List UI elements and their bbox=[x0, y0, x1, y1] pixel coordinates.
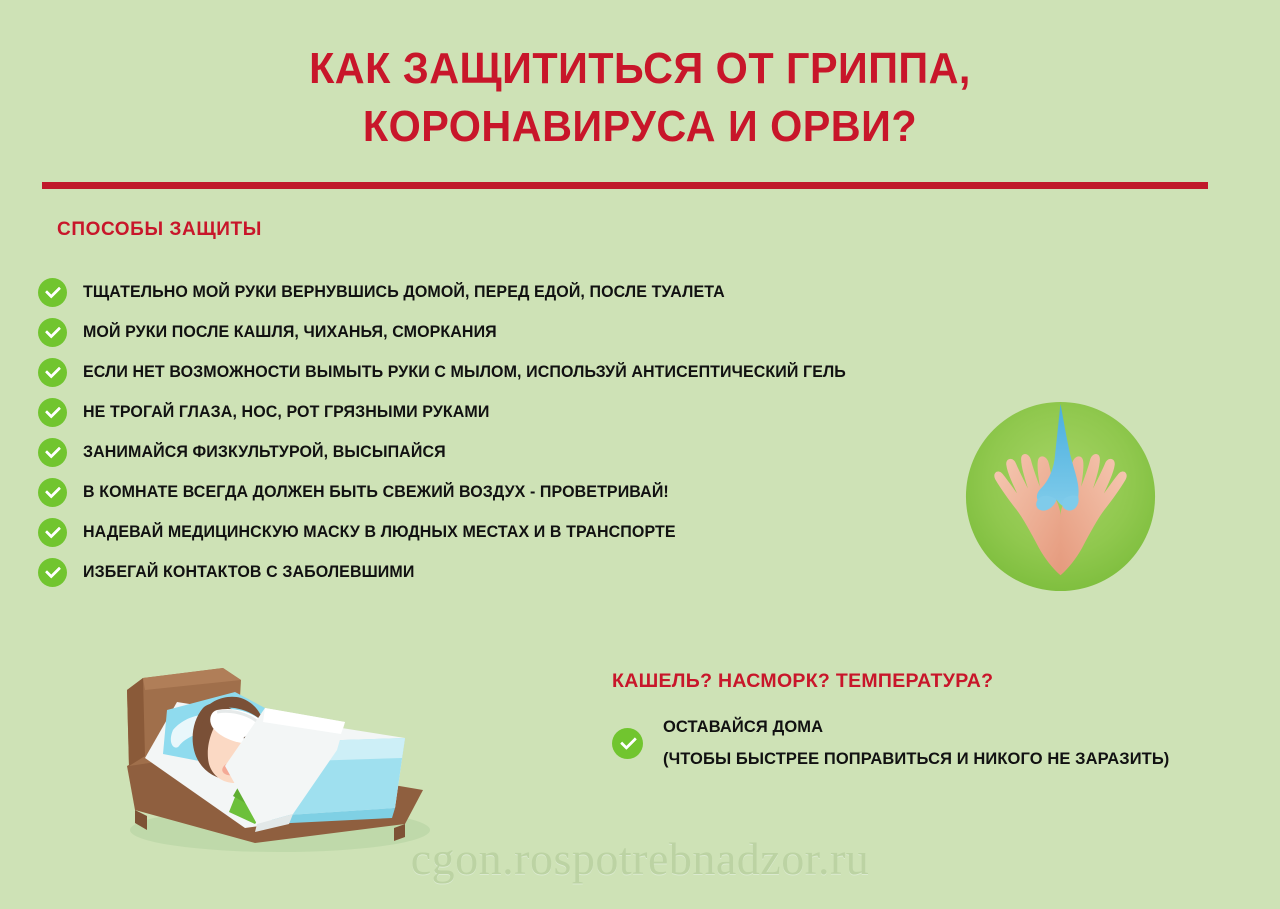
stay-home-main-label: ОСТАВАЙСЯ ДОМА bbox=[663, 711, 1169, 743]
poster-title: КАК ЗАЩИТИТЬСЯ ОТ ГРИППА, КОРОНАВИРУСА И… bbox=[0, 40, 1280, 156]
stay-home-advice-row: ОСТАВАЙСЯ ДОМА (ЧТОБЫ БЫСТРЕЕ ПОПРАВИТЬС… bbox=[612, 711, 1232, 775]
list-item: МОЙ РУКИ ПОСЛЕ КАШЛЯ, ЧИХАНЬЯ, СМОРКАНИЯ bbox=[38, 312, 1038, 352]
check-circle-icon bbox=[38, 318, 67, 347]
check-circle-icon bbox=[38, 278, 67, 307]
symptoms-heading: КАШЕЛЬ? НАСМОРК? ТЕМПЕРАТУРА? bbox=[612, 670, 1232, 693]
list-item-label: НЕ ТРОГАЙ ГЛАЗА, НОС, РОТ ГРЯЗНЫМИ РУКАМ… bbox=[83, 403, 489, 422]
title-divider-rule bbox=[42, 182, 1208, 189]
list-item: НАДЕВАЙ МЕДИЦИНСКУЮ МАСКУ В ЛЮДНЫХ МЕСТА… bbox=[38, 512, 1038, 552]
list-item: НЕ ТРОГАЙ ГЛАЗА, НОС, РОТ ГРЯЗНЫМИ РУКАМ… bbox=[38, 392, 1038, 432]
check-circle-icon bbox=[38, 518, 67, 547]
list-item-label: ИЗБЕГАЙ КОНТАКТОВ С ЗАБОЛЕВШИМИ bbox=[83, 563, 414, 582]
infographic-poster: КАК ЗАЩИТИТЬСЯ ОТ ГРИППА, КОРОНАВИРУСА И… bbox=[0, 0, 1280, 909]
list-item: ИЗБЕГАЙ КОНТАКТОВ С ЗАБОЛЕВШИМИ bbox=[38, 552, 1038, 592]
list-item-label: В КОМНАТЕ ВСЕГДА ДОЛЖЕН БЫТЬ СВЕЖИЙ ВОЗД… bbox=[83, 483, 669, 502]
list-item: В КОМНАТЕ ВСЕГДА ДОЛЖЕН БЫТЬ СВЕЖИЙ ВОЗД… bbox=[38, 472, 1038, 512]
hands-washing-illustration bbox=[962, 398, 1159, 595]
list-item: ЕСЛИ НЕТ ВОЗМОЖНОСТИ ВЫМЫТЬ РУКИ С МЫЛОМ… bbox=[38, 352, 1038, 392]
check-circle-icon bbox=[38, 478, 67, 507]
list-item-label: МОЙ РУКИ ПОСЛЕ КАШЛЯ, ЧИХАНЬЯ, СМОРКАНИЯ bbox=[83, 323, 497, 342]
title-line-2: КОРОНАВИРУСА И ОРВИ? bbox=[38, 98, 1241, 156]
stay-home-sub-label: (ЧТОБЫ БЫСТРЕЕ ПОПРАВИТЬСЯ И НИКОГО НЕ З… bbox=[663, 743, 1169, 775]
list-item-label: ЕСЛИ НЕТ ВОЗМОЖНОСТИ ВЫМЫТЬ РУКИ С МЫЛОМ… bbox=[83, 363, 846, 382]
stay-home-advice-texts: ОСТАВАЙСЯ ДОМА (ЧТОБЫ БЫСТРЕЕ ПОПРАВИТЬС… bbox=[663, 711, 1169, 775]
symptoms-section: КАШЕЛЬ? НАСМОРК? ТЕМПЕРАТУРА? ОСТАВАЙСЯ … bbox=[612, 670, 1232, 775]
list-item-label: НАДЕВАЙ МЕДИЦИНСКУЮ МАСКУ В ЛЮДНЫХ МЕСТА… bbox=[83, 523, 676, 542]
list-item: ЗАНИМАЙСЯ ФИЗКУЛЬТУРОЙ, ВЫСЫПАЙСЯ bbox=[38, 432, 1038, 472]
list-item-label: ТЩАТЕЛЬНО МОЙ РУКИ ВЕРНУВШИСЬ ДОМОЙ, ПЕР… bbox=[83, 283, 725, 302]
check-circle-icon bbox=[38, 438, 67, 467]
list-item: ТЩАТЕЛЬНО МОЙ РУКИ ВЕРНУВШИСЬ ДОМОЙ, ПЕР… bbox=[38, 272, 1038, 312]
check-circle-icon bbox=[612, 728, 643, 759]
check-circle-icon bbox=[38, 558, 67, 587]
check-circle-icon bbox=[38, 358, 67, 387]
site-watermark: cgon.rospotrebnadzor.ru bbox=[0, 832, 1280, 885]
title-line-1: КАК ЗАЩИТИТЬСЯ ОТ ГРИППА, bbox=[38, 40, 1241, 98]
protection-list: ТЩАТЕЛЬНО МОЙ РУКИ ВЕРНУВШИСЬ ДОМОЙ, ПЕР… bbox=[38, 272, 1038, 592]
protection-section-heading: СПОСОБЫ ЗАЩИТЫ bbox=[57, 219, 262, 241]
list-item-label: ЗАНИМАЙСЯ ФИЗКУЛЬТУРОЙ, ВЫСЫПАЙСЯ bbox=[83, 443, 446, 462]
sick-person-in-bed-illustration bbox=[105, 638, 450, 853]
check-circle-icon bbox=[38, 398, 67, 427]
